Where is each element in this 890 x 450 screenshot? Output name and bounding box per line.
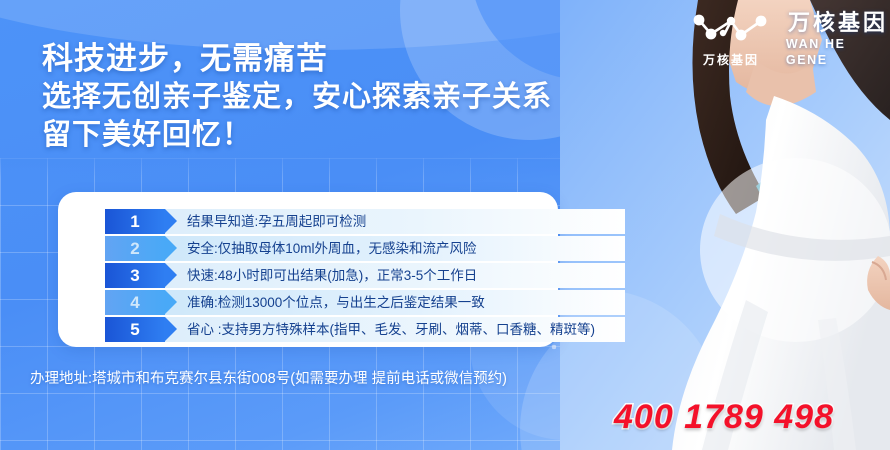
- list-item-text: 安全:仅抽取母体10ml外周血，无感染和流产风险: [165, 236, 625, 261]
- list-item-number: 5: [130, 320, 139, 340]
- list-item: 5 省心 :支持男方特殊样本(指甲、毛发、牙刷、烟蒂、口香糖、精斑等): [105, 317, 625, 342]
- list-item-number: 1: [130, 212, 139, 232]
- headline-line-1-part-1: 科技进步: [42, 41, 170, 76]
- list-item-number-badge: 4: [105, 290, 165, 315]
- features-card: 1 结果早知道:孕五周起即可检测 2 安全:仅抽取母体10ml外周血，无感染和流…: [58, 192, 558, 347]
- headline-line-1-part-2: 无需痛苦: [200, 41, 328, 76]
- list-item-number: 3: [130, 266, 139, 286]
- brand-name-cn: 万核基因: [788, 10, 888, 36]
- list-item: 4 准确:检测13000个位点，与出生之后鉴定结果一致: [105, 290, 625, 315]
- list-item: 3 快速:48小时即可出结果(加急)，正常3-5个工作日: [105, 263, 625, 288]
- address-text: 办理地址:塔城市和布克赛尔县东街008号(如需要办理 提前电话或微信预约): [30, 367, 507, 388]
- phone-number[interactable]: 400 1789 498: [614, 398, 834, 437]
- logo-mark: 万核基因: [686, 11, 776, 68]
- molecule-dna-icon: [689, 11, 773, 49]
- list-item-text: 省心 :支持男方特殊样本(指甲、毛发、牙刷、烟蒂、口香糖、精斑等): [165, 317, 625, 342]
- list-item-text: 结果早知道:孕五周起即可检测: [165, 209, 625, 234]
- headline-line-2: 选择无创亲子鉴定，安心探索亲子关系: [42, 78, 552, 116]
- list-item-number: 4: [130, 293, 139, 313]
- headline-line-1: 科技进步，无需痛苦: [42, 40, 552, 78]
- features-list: 1 结果早知道:孕五周起即可检测 2 安全:仅抽取母体10ml外周血，无感染和流…: [105, 209, 625, 344]
- list-item-number-badge: 5: [105, 317, 165, 342]
- list-item: 1 结果早知道:孕五周起即可检测: [105, 209, 625, 234]
- list-item-number-badge: 3: [105, 263, 165, 288]
- list-item: 2 安全:仅抽取母体10ml外周血，无感染和流产风险: [105, 236, 625, 261]
- list-item-number-badge: 2: [105, 236, 165, 261]
- list-item-text: 准确:检测13000个位点，与出生之后鉴定结果一致: [165, 290, 625, 315]
- brand-logo[interactable]: 万核基因 万核基因 WAN HE GENE: [686, 10, 890, 68]
- logo-wordmark: 万核基因 WAN HE GENE: [786, 10, 890, 68]
- list-item-text: 快速:48小时即可出结果(加急)，正常3-5个工作日: [165, 263, 625, 288]
- brand-name-en: WAN HE GENE: [786, 36, 890, 68]
- list-item-number: 2: [130, 239, 139, 259]
- promo-banner: 科技进步，无需痛苦 选择无创亲子鉴定，安心探索亲子关系 留下美好回忆！ 1 结果…: [0, 0, 890, 450]
- list-item-number-badge: 1: [105, 209, 165, 234]
- logo-mark-label: 万核基因: [703, 51, 759, 68]
- headline-separator: ，: [170, 41, 200, 76]
- headline-line-3: 留下美好回忆！: [42, 116, 552, 154]
- headline-block: 科技进步，无需痛苦 选择无创亲子鉴定，安心探索亲子关系 留下美好回忆！: [42, 40, 552, 154]
